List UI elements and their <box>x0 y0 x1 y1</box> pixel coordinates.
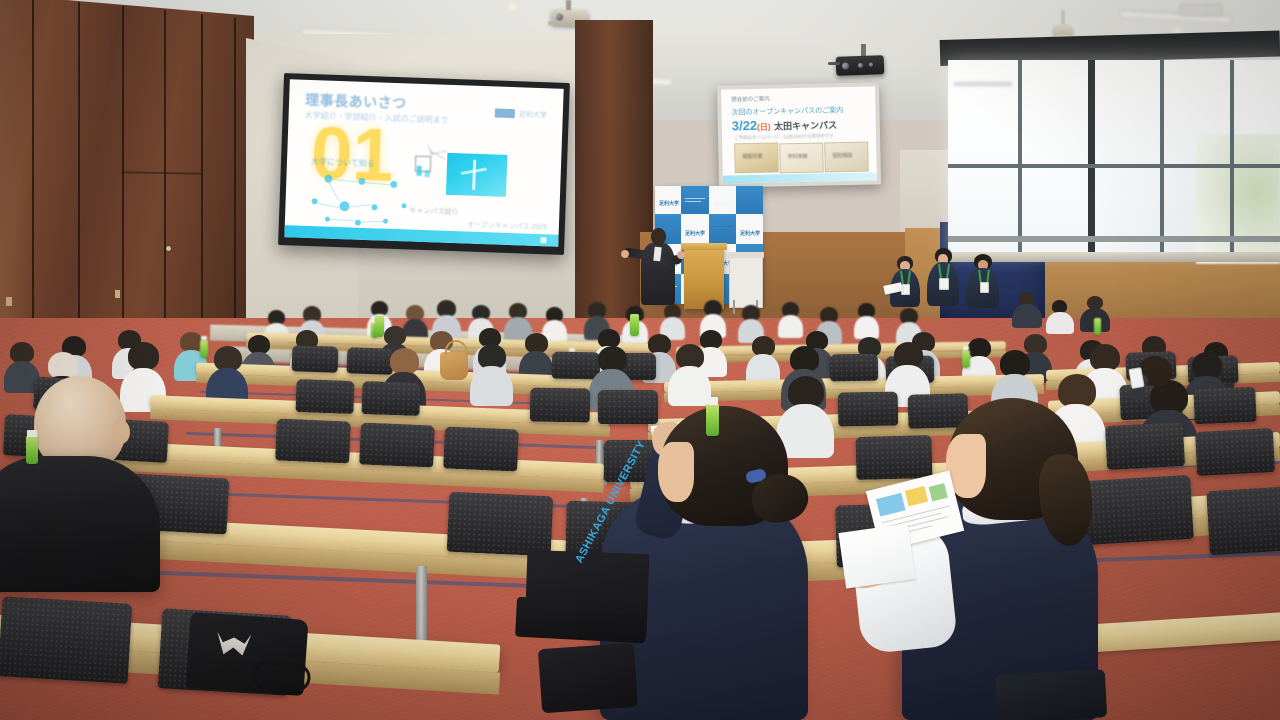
chair[interactable] <box>359 422 435 467</box>
chair[interactable] <box>1195 428 1275 476</box>
tea-bottle <box>375 316 384 337</box>
tea-bottle <box>26 436 38 464</box>
floor-bag <box>995 669 1107 720</box>
man-ear <box>112 420 130 444</box>
floor-bag <box>538 643 638 714</box>
sports-bag <box>185 612 308 696</box>
chair[interactable] <box>275 418 351 463</box>
chair[interactable] <box>447 492 554 557</box>
tea-bottle-cap <box>707 397 718 405</box>
bag-logo <box>216 632 251 656</box>
lecture-hall-photo: 理事長あいさつ 大学紹介・学部紹介・入試のご説明まで 足利大学 01 大学につい… <box>0 0 1280 720</box>
tote-bag-flap <box>515 597 647 644</box>
chair[interactable] <box>443 426 519 471</box>
man-tshirt <box>0 456 160 592</box>
handout-sheet <box>838 523 915 588</box>
chair[interactable] <box>1206 485 1280 555</box>
bag-strap <box>252 660 312 692</box>
tea-bottle <box>706 404 719 436</box>
tea-bottle-cap <box>27 430 37 437</box>
tea-bottle <box>630 314 639 336</box>
man-black-tshirt <box>0 376 220 636</box>
student-face-edge <box>658 442 694 502</box>
